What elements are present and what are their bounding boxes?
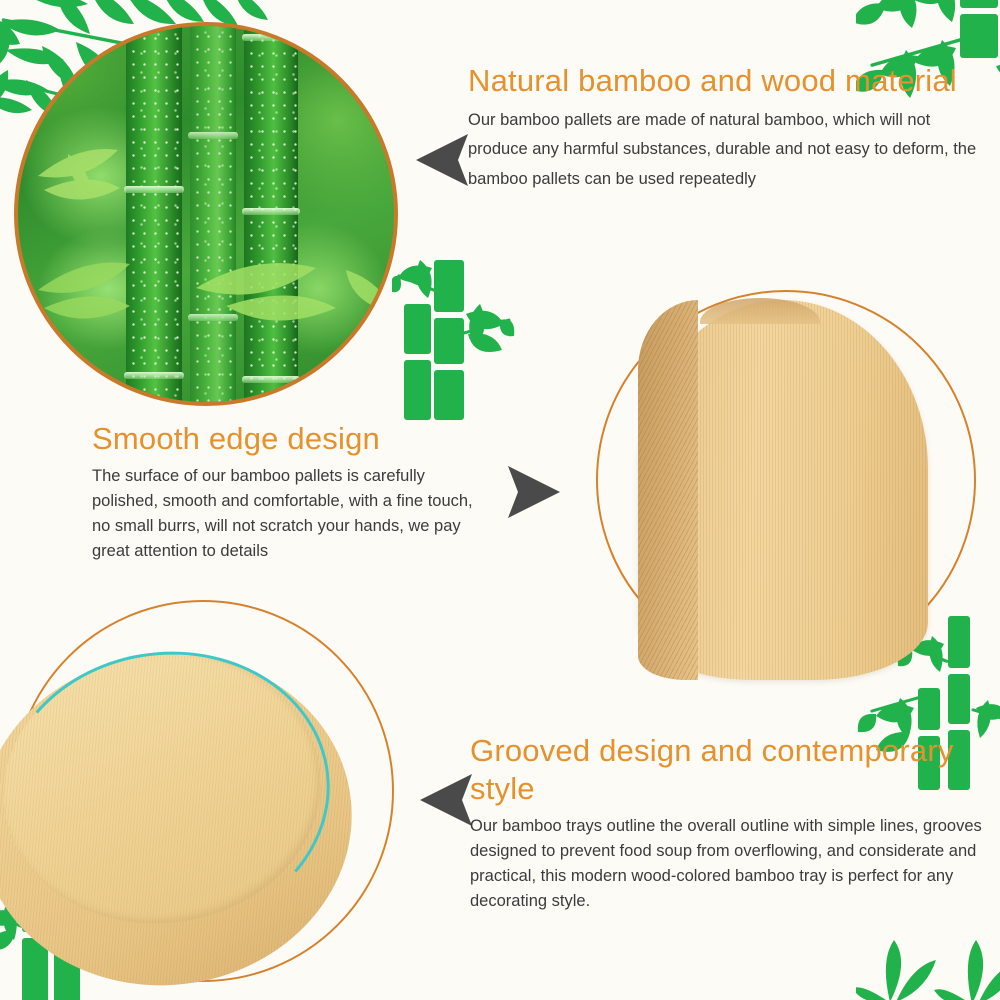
infographic-page: Natural bamboo and wood material Our bam… bbox=[0, 0, 1000, 1000]
bamboo-forest-photo bbox=[14, 22, 398, 406]
feature-block-smooth-edge: Smooth edge design The surface of our ba… bbox=[92, 420, 492, 564]
feature-body-natural-material: Our bamboo pallets are made of natural b… bbox=[468, 106, 988, 194]
bamboo-stalk-photo-right bbox=[244, 22, 298, 406]
photo-foliage-right-icon bbox=[196, 240, 396, 336]
feature-block-natural-material: Natural bamboo and wood material Our bam… bbox=[468, 62, 988, 194]
feature-heading-smooth-edge: Smooth edge design bbox=[92, 420, 492, 458]
bamboo-stalks-center-icon bbox=[392, 246, 524, 422]
photo-foliage-left-icon bbox=[28, 136, 158, 216]
photo-foliage-lower-left-icon bbox=[32, 246, 172, 336]
feature-heading-natural-material: Natural bamboo and wood material bbox=[468, 62, 988, 100]
feature-body-grooved-design: Our bamboo trays outline the overall out… bbox=[470, 814, 985, 914]
feature-body-smooth-edge: The surface of our bamboo pallets is car… bbox=[92, 464, 492, 564]
feature-block-grooved-design: Grooved design and contemporary style Ou… bbox=[470, 732, 985, 914]
feature-heading-grooved-design: Grooved design and contemporary style bbox=[470, 732, 985, 808]
arrow-left-grooved-icon bbox=[418, 772, 476, 828]
bamboo-board-edge bbox=[638, 300, 698, 680]
bamboo-sprouts-bottom-right-icon bbox=[856, 918, 1000, 1000]
bamboo-stalk-photo-middle bbox=[190, 22, 236, 406]
arrow-left-material-icon bbox=[414, 132, 472, 188]
arrow-right-smooth-icon bbox=[504, 464, 562, 520]
